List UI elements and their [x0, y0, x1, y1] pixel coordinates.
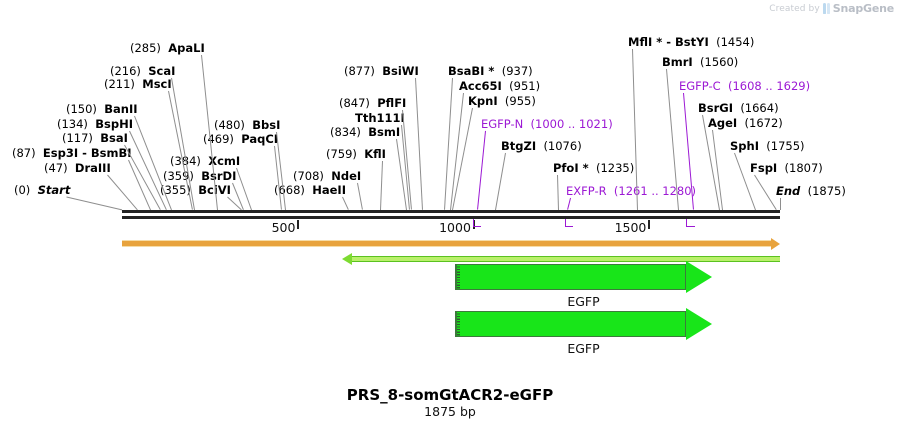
- site-name: ScaI: [148, 64, 175, 78]
- site-position: (0): [14, 183, 30, 197]
- site-position: (1000 .. 1021): [531, 117, 613, 131]
- snapgene-watermark: Created by SnapGene: [769, 2, 894, 15]
- egfp-arrow-2-label: EGFP: [567, 341, 599, 356]
- enzyme-label: (834) BsmI: [330, 126, 400, 139]
- site-position: (1560): [700, 55, 738, 69]
- enzyme-label: Acc65I (951): [459, 80, 540, 93]
- site-name: BbsI: [252, 118, 280, 132]
- enzyme-label: BsaBI * (937): [448, 65, 533, 78]
- enzyme-label: (708) NdeI: [293, 170, 361, 183]
- site-position: (469): [203, 132, 234, 146]
- feature-leader-line: [477, 131, 486, 210]
- snapgene-logo-icon: [823, 3, 830, 14]
- site-name: BanII: [104, 102, 137, 116]
- enzyme-leader-line: [342, 197, 349, 210]
- enzyme-leader-line: [754, 175, 777, 211]
- orange-span-arrowhead: [771, 238, 780, 250]
- enzyme-label: FspI (1807): [750, 162, 823, 175]
- enzyme-leader-line: [450, 93, 464, 210]
- feature-bracket: [473, 219, 481, 227]
- site-position: (937): [502, 64, 533, 78]
- site-position: (216): [110, 64, 141, 78]
- site-position: (1672): [745, 116, 783, 130]
- enzyme-label: End (1875): [776, 185, 846, 198]
- enzyme-leader-line: [780, 198, 781, 210]
- feature-bracket: [686, 219, 694, 227]
- site-position: (1608 .. 1629): [728, 79, 810, 93]
- site-name: EXFP-R: [566, 184, 607, 198]
- site-position: (1807): [785, 161, 823, 175]
- site-position: (1261 .. 1280): [614, 184, 696, 198]
- enzyme-label: BtgZI (1076): [501, 140, 582, 153]
- site-position: (134): [57, 117, 88, 131]
- site-name: End: [776, 184, 800, 198]
- feature-bracket: [565, 219, 573, 227]
- site-position: (708): [293, 169, 324, 183]
- site-name: FspI: [750, 161, 777, 175]
- site-name: BmrI: [662, 55, 693, 69]
- enzyme-leader-line: [107, 175, 138, 211]
- enzyme-label: (285) ApaLI: [130, 42, 205, 55]
- egfp-arrow-2-body: [455, 311, 686, 337]
- enzyme-label: (134) BspHI: [57, 118, 133, 131]
- enzyme-label: (150) BanII: [66, 103, 138, 116]
- enzyme-label: (469) PaqCI: [203, 133, 278, 146]
- site-position: (117): [62, 131, 93, 145]
- site-name: MflI * - BstYI: [628, 35, 709, 49]
- site-name: BsiWI: [382, 64, 419, 78]
- site-position: (951): [509, 79, 540, 93]
- site-name: BsaBI *: [448, 64, 494, 78]
- enzyme-label: BmrI (1560): [662, 56, 738, 69]
- site-name: KpnI: [468, 94, 498, 108]
- egfp-arrow-1-label: EGFP: [567, 294, 599, 309]
- enzyme-label: (759) KflI: [326, 148, 386, 161]
- light-green-span-arrowhead: [342, 253, 352, 265]
- light-green-span-arrow: [351, 256, 780, 262]
- enzyme-label: (877) BsiWI: [344, 65, 419, 78]
- site-position: (150): [66, 102, 97, 116]
- site-name: BsmI: [368, 125, 400, 139]
- site-position: (834): [330, 125, 361, 139]
- enzyme-label: SphI (1755): [730, 140, 805, 153]
- ruler-tick-label: 1000: [439, 220, 471, 235]
- ruler-tick-label: 1500: [615, 220, 647, 235]
- site-position: (1454): [716, 35, 754, 49]
- enzyme-leader-line: [557, 175, 559, 210]
- site-name: BtgZI: [501, 139, 536, 153]
- enzyme-label: (668) HaeII: [274, 184, 346, 197]
- ruler-tick-label: 500: [272, 220, 296, 235]
- plasmid-length: 1875 bp: [0, 404, 900, 419]
- site-position: (877): [344, 64, 375, 78]
- enzyme-label: Tth111I: [355, 112, 405, 125]
- backbone-upper-strand: [122, 210, 780, 213]
- site-name: MscI: [142, 77, 171, 91]
- site-position: (759): [326, 147, 357, 161]
- site-position: (1755): [766, 139, 804, 153]
- site-position: (480): [214, 118, 245, 132]
- site-name: SphI: [730, 139, 759, 153]
- site-name: BsrGI: [698, 101, 733, 115]
- enzyme-label: (847) PflFI: [339, 97, 406, 110]
- ruler-tick: [297, 220, 299, 229]
- site-position: (1875): [808, 184, 846, 198]
- enzyme-label: (47) DraIII: [44, 162, 111, 175]
- enzyme-leader-line: [66, 197, 122, 211]
- enzyme-label: (359) BsrDI: [163, 170, 236, 183]
- egfp-arrow-1-body: [455, 264, 686, 290]
- site-position: (1664): [740, 101, 778, 115]
- egfp-arrow-2-cap: [456, 312, 460, 336]
- site-name: PaqCI: [241, 132, 278, 146]
- egfp-arrow-1-cap: [456, 265, 460, 289]
- enzyme-label: (480) BbsI: [214, 119, 280, 132]
- site-name: Esp3I - BsmBI: [43, 146, 132, 160]
- orange-span-arrow: [122, 240, 772, 247]
- site-name: Start: [38, 183, 71, 197]
- enzyme-label: (216) ScaI: [110, 65, 175, 78]
- enzyme-leader-line: [380, 161, 383, 210]
- site-position: (285): [130, 41, 161, 55]
- site-name: ApaLI: [168, 41, 205, 55]
- enzyme-leader-line: [129, 131, 167, 210]
- site-name: AgeI: [708, 116, 737, 130]
- site-position: (47): [44, 161, 68, 175]
- feature-leader-line: [567, 198, 571, 210]
- site-name: NdeI: [331, 169, 361, 183]
- enzyme-label: AgeI (1672): [708, 117, 783, 130]
- enzyme-leader-line: [236, 168, 252, 210]
- site-position: (211): [104, 77, 135, 91]
- site-position: (1235): [596, 161, 634, 175]
- feature-label: EGFP-N (1000 .. 1021): [481, 118, 613, 131]
- enzyme-label: (117) BsaI: [62, 132, 128, 145]
- site-name: EGFP-N: [481, 117, 523, 131]
- enzyme-label: (87) Esp3I - BsmBI: [12, 147, 132, 160]
- site-name: BsaI: [100, 131, 128, 145]
- backbone-lower-strand: [122, 216, 780, 219]
- site-name: DraIII: [75, 161, 111, 175]
- ruler-tick: [648, 220, 650, 229]
- site-name: PfoI *: [553, 161, 589, 175]
- enzyme-label: (355) BciVI: [160, 184, 231, 197]
- feature-label: EGFP-C (1608 .. 1629): [679, 80, 810, 93]
- site-position: (1076): [543, 139, 581, 153]
- enzyme-label: KpnI (955): [468, 95, 536, 108]
- plasmid-title: PRS_8-somGtACR2-eGFP: [0, 386, 900, 404]
- site-name: BsrDI: [201, 169, 236, 183]
- enzyme-label: PfoI * (1235): [553, 162, 634, 175]
- site-name: EGFP-C: [679, 79, 721, 93]
- site-name: KflI: [364, 147, 386, 161]
- enzyme-leader-line: [357, 183, 363, 210]
- site-name: HaeII: [312, 183, 346, 197]
- plasmid-map: Created by SnapGene (0) Start(47) DraIII…: [0, 0, 900, 426]
- enzyme-label: BsrGI (1664): [698, 102, 779, 115]
- site-position: (847): [339, 96, 370, 110]
- site-name: BspHI: [95, 117, 133, 131]
- enzyme-label: (0) Start: [14, 184, 70, 197]
- watermark-prefix: Created by: [769, 4, 820, 14]
- watermark-brand: SnapGene: [833, 2, 894, 15]
- site-name: Tth111I: [355, 111, 405, 125]
- site-position: (955): [505, 94, 536, 108]
- enzyme-leader-line: [415, 78, 423, 210]
- site-name: PflFI: [377, 96, 406, 110]
- enzyme-label: MflI * - BstYI (1454): [628, 36, 754, 49]
- enzyme-label: (211) MscI: [104, 78, 172, 91]
- site-name: Acc65I: [459, 79, 502, 93]
- site-position: (87): [12, 146, 36, 160]
- enzyme-leader-line: [495, 153, 506, 210]
